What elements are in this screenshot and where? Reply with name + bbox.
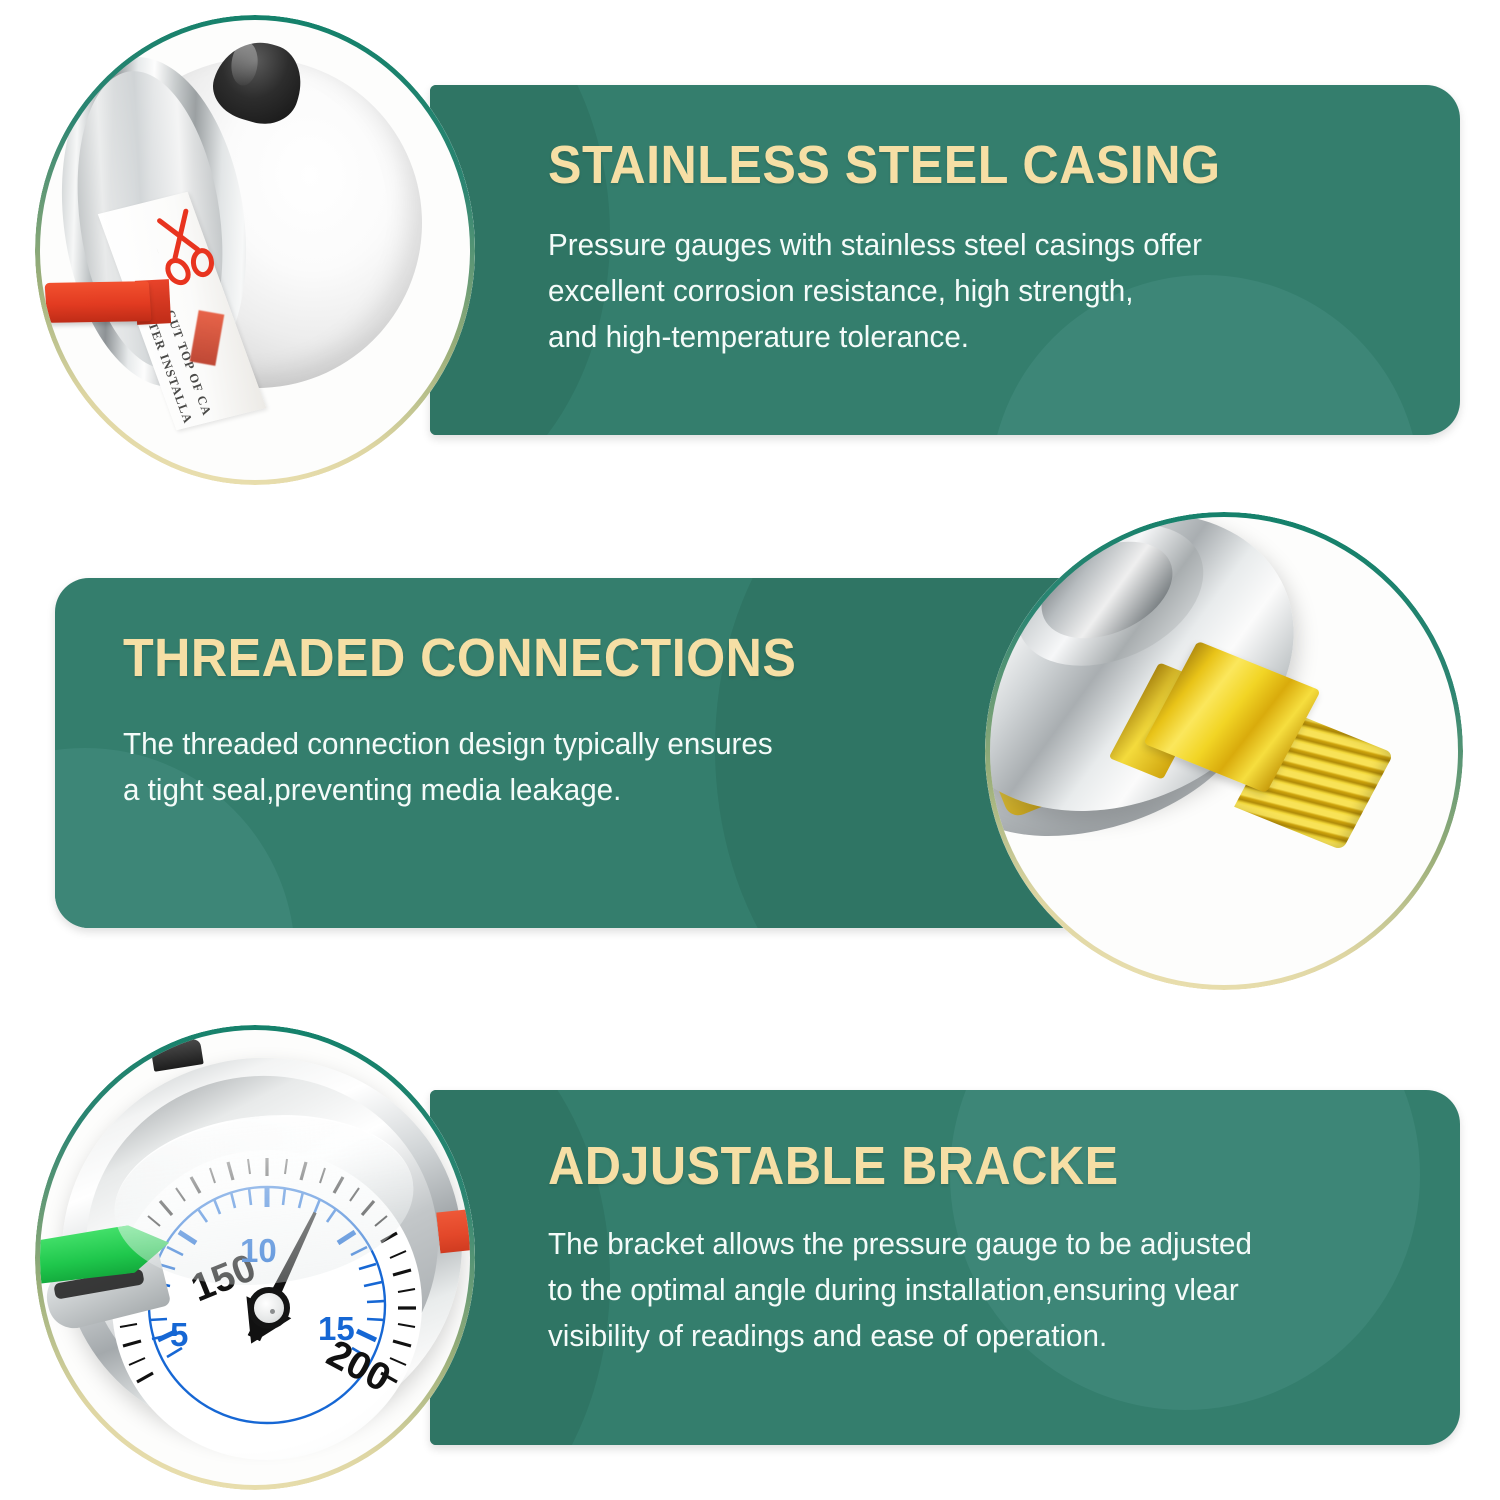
feature-body-line: excellent corrosion resistance, high str… [548,268,1249,314]
feature-body-line: Pressure gauges with stainless steel cas… [548,222,1249,268]
feature-image-adjustable-bracket: 150 200 10 15 5 [35,1025,475,1490]
feature-panel-threaded-connections: THREADED CONNECTIONS The threaded connec… [55,578,1080,928]
feature-image-threaded-connections [985,512,1463,990]
feature-title-adjustable-bracket: ADJUSTABLE BRACKE [548,1138,1223,1195]
feature-body-line: and high-temperature tolerance. [548,314,1249,360]
feature-body-line: visibility of readings and ease of opera… [548,1313,1252,1359]
infographic-page: STAINLESS STEEL CASING Pressure gauges w… [0,0,1500,1500]
feature-title-threaded-connections: THREADED CONNECTIONS [123,630,796,687]
feature-body-threaded-connections: The threaded connection design typically… [123,721,825,814]
medallion-ring [35,15,475,485]
medallion-ring [35,1025,475,1490]
feature-panel-stainless-steel-casing: STAINLESS STEEL CASING Pressure gauges w… [430,85,1460,435]
feature-title-stainless-steel-casing: STAINLESS STEEL CASING [548,137,1220,194]
feature-body-stainless-steel-casing: Pressure gauges with stainless steel cas… [548,222,1249,361]
feature-image-stainless-steel-casing: AFTER INSTALLA CUT TOP OF CA [35,15,475,485]
feature-body-line: to the optimal angle during installation… [548,1267,1252,1313]
feature-body-line: The bracket allows the pressure gauge to… [548,1221,1252,1267]
feature-body-adjustable-bracket: The bracket allows the pressure gauge to… [548,1221,1252,1360]
feature-panel-adjustable-bracket: ADJUSTABLE BRACKE The bracket allows the… [430,1090,1460,1445]
feature-body-line: a tight seal,preventing media leakage. [123,767,825,813]
feature-body-line: The threaded connection design typically… [123,721,825,767]
medallion-ring [985,512,1463,990]
